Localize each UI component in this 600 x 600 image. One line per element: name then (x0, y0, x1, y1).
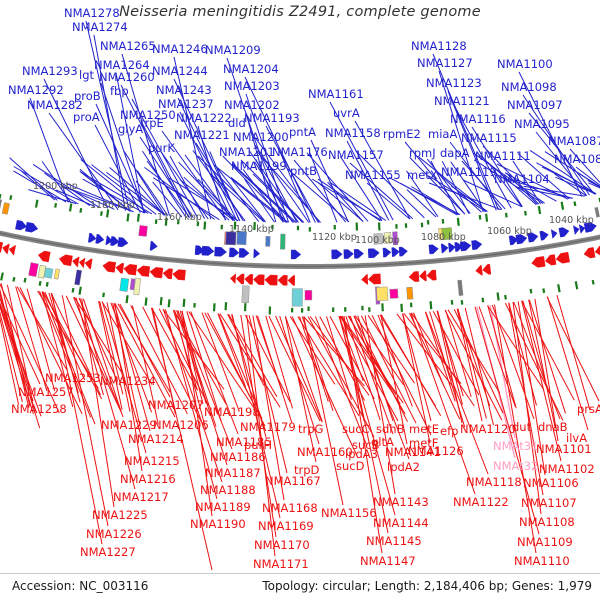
gene-label-reverse[interactable]: NMA1258 (11, 404, 67, 416)
gene-label-reverse[interactable]: NMA1226 (86, 529, 142, 541)
gene-label-forward[interactable]: NMA1202 (224, 100, 280, 112)
gene-label-forward[interactable]: NMA1193 (244, 113, 300, 125)
gene-label-forward[interactable]: pntA (289, 127, 316, 139)
gene-label-forward[interactable]: NMA1128 (411, 41, 467, 53)
gene-label-forward[interactable]: NMA1095 (514, 119, 570, 131)
gene-label-reverse[interactable]: NMA1187 (205, 468, 261, 480)
gene-label-forward[interactable]: NMA1293 (22, 66, 78, 78)
gene-label-reverse[interactable]: NMA1214 (128, 434, 184, 446)
gene-label-forward[interactable]: miaA (428, 129, 457, 141)
gene-label-reverse[interactable]: NMA1189 (195, 502, 251, 514)
gene-label-reverse[interactable]: efp (440, 426, 458, 438)
gene-label-forward[interactable]: NMA1121 (434, 96, 490, 108)
gene-label-forward[interactable]: NMA1157 (328, 150, 384, 162)
gene-label-reverse[interactable]: NMA1118 (466, 477, 522, 489)
ruler-tick-label: 1140 kbp (229, 224, 274, 235)
gene-label-reverse[interactable]: NMA1217 (113, 492, 169, 504)
gene-label-reverse[interactable]: NMA1169 (258, 521, 314, 533)
gene-label-reverse[interactable]: NMA1206 (153, 420, 209, 432)
ruler-tick-label: 1060 kbp (487, 226, 532, 237)
gene-label-reverse[interactable]: dnaB (538, 422, 568, 434)
gene-label-forward[interactable]: NMA1246 (152, 44, 208, 56)
gene-label-forward[interactable]: NMA1115 (461, 133, 517, 145)
gene-label-forward[interactable]: NMA1274 (72, 22, 128, 34)
gene-label-reverse[interactable]: NMA1101 (536, 444, 592, 456)
gene-label-reverse[interactable]: NMA1190 (190, 519, 246, 531)
gene-label-forward[interactable]: NMA1221 (174, 130, 230, 142)
gene-label-forward[interactable]: fbp (110, 86, 129, 98)
ruler-tick-label: 1120 kbp (312, 232, 357, 243)
gene-label-reverse[interactable]: NMA1102 (539, 464, 595, 476)
gene-label-reverse[interactable]: NMA1216 (120, 474, 176, 486)
gene-label-forward[interactable]: NMA1161 (308, 89, 364, 101)
gene-label-reverse[interactable]: dut (512, 422, 531, 434)
gene-label-reverse[interactable]: NMA1108 (519, 517, 575, 529)
gene-label-forward[interactable]: NMA1204 (223, 64, 279, 76)
gene-label-forward[interactable]: uvrA (333, 108, 360, 120)
gene-label-forward[interactable]: NMA1086 (554, 154, 600, 166)
ruler-tick-label: 1080 kbp (421, 232, 466, 243)
gene-label-forward[interactable]: NMA1200 (233, 132, 289, 144)
gene-label-forward[interactable]: purK (148, 143, 175, 155)
gene-label-reverse[interactable]: NMA1207 (148, 400, 204, 412)
gene-label-reverse[interactable]: NMA1167 (265, 476, 321, 488)
gene-label-forward[interactable]: NMA1292 (8, 85, 64, 97)
gene-label-forward[interactable]: dapA (440, 148, 470, 160)
gene-label-reverse[interactable]: NMA1145 (366, 536, 422, 548)
gene-label-forward[interactable]: NMA1222 (176, 113, 232, 125)
gene-label-forward[interactable]: NMA1244 (152, 66, 208, 78)
trna-label[interactable]: NMAt32 (493, 461, 538, 473)
gene-label-reverse[interactable]: NMA1215 (124, 456, 180, 468)
gene-label-forward[interactable]: NMA1116 (450, 114, 506, 126)
gene-label-forward[interactable]: NMA1123 (426, 78, 482, 90)
gene-label-forward[interactable]: rpmJ (409, 148, 436, 160)
gene-label-reverse[interactable]: NMA1141 (385, 447, 441, 459)
gene-label-reverse[interactable]: NMA1171 (253, 559, 309, 571)
gene-label-forward[interactable]: NMA1104 (494, 174, 550, 186)
ruler-tick-label: 1040 kbp (549, 215, 594, 226)
gene-label-forward[interactable]: NMA1087 (548, 136, 600, 148)
accession-text: Accession: NC_003116 (12, 579, 148, 593)
gene-label-reverse[interactable]: NMA1107 (521, 498, 577, 510)
gene-label-reverse[interactable]: trpG (298, 424, 323, 436)
gene-label-reverse[interactable]: NMA1122 (453, 497, 509, 509)
gene-label-forward[interactable]: NMA1201 (219, 147, 275, 159)
gene-label-reverse[interactable]: NMA1227 (80, 547, 136, 559)
gene-label-forward[interactable]: NMA1155 (345, 170, 401, 182)
gene-label-forward[interactable]: NMA1097 (507, 100, 563, 112)
gene-label-reverse[interactable]: NMA1186 (210, 452, 266, 464)
gene-label-reverse[interactable]: metE (409, 424, 439, 436)
gene-label-forward[interactable]: NMA1203 (224, 81, 280, 93)
gene-label-forward[interactable]: NMA1100 (497, 59, 553, 71)
gene-label-reverse[interactable]: NMA1229 (101, 420, 157, 432)
ruler-tick-label: 1180 kbp (90, 200, 135, 211)
gene-label-reverse[interactable]: sucD (336, 461, 364, 473)
trna-label[interactable]: NMAt31 (493, 441, 538, 453)
genome-viewer: Neisseria meningitidis Z2491, complete g… (0, 0, 600, 600)
gene-label-forward[interactable]: NMA1176 (272, 147, 328, 159)
gene-label-reverse[interactable]: NMA1156 (321, 508, 377, 520)
gene-label-reverse[interactable]: NMA1144 (373, 518, 429, 530)
gene-label-forward[interactable]: rpmE2 (383, 129, 421, 141)
gene-label-reverse[interactable]: sucC (342, 424, 370, 436)
gene-label-forward[interactable]: NMA1243 (156, 85, 212, 97)
gene-label-reverse[interactable]: NMA1143 (373, 497, 429, 509)
gene-label-reverse[interactable]: NMA1147 (360, 556, 416, 568)
gene-label-reverse[interactable]: NMA1106 (523, 478, 579, 490)
gene-label-reverse[interactable]: sdhB (376, 424, 404, 436)
ruler-tick-label: 1200 kbp (33, 181, 78, 192)
gene-label-forward[interactable]: NMA1265 (100, 41, 156, 53)
gene-label-forward[interactable]: NMA1209 (205, 45, 261, 57)
gene-label-reverse[interactable]: NMA1170 (254, 540, 310, 552)
gene-label-reverse[interactable]: NMA1225 (92, 510, 148, 522)
gene-label-reverse[interactable]: NMA1179 (240, 422, 296, 434)
gene-label-reverse[interactable]: NMA1234 (100, 376, 156, 388)
gene-label-reverse[interactable]: prsA (577, 404, 600, 416)
gene-label-reverse[interactable]: NMA1110 (514, 556, 570, 568)
gene-label-reverse[interactable]: NMA1185 (216, 437, 272, 449)
gene-label-forward[interactable]: NMA1199 (231, 161, 287, 173)
gene-label-forward[interactable]: NMA1119 (441, 167, 497, 179)
gene-label-forward[interactable]: NMA1098 (501, 82, 557, 94)
gene-label-reverse[interactable]: NMA1168 (262, 503, 318, 515)
gene-label-reverse[interactable]: NMA1188 (200, 485, 256, 497)
gene-label-forward[interactable]: proA (73, 112, 100, 124)
ruler-tick-label: 1160 kbp (157, 212, 202, 223)
gene-label-forward[interactable]: lgt (79, 70, 94, 82)
gene-label-forward[interactable]: NMA1127 (417, 58, 473, 70)
gene-label-forward[interactable]: pntB (290, 166, 317, 178)
topology-text: Topology: circular; Length: 2,184,406 bp… (262, 579, 592, 593)
gene-label-reverse[interactable]: NMA1120 (460, 424, 516, 436)
gene-label-forward[interactable]: NMA1158 (325, 128, 381, 140)
status-bar: Accession: NC_003116 Topology: circular;… (0, 573, 600, 600)
gene-label-forward[interactable]: NMA1278 (64, 8, 120, 20)
gene-label-reverse[interactable]: NMA1253 (45, 373, 101, 385)
gene-label-reverse[interactable]: NMA1109 (517, 537, 573, 549)
gene-label-reverse[interactable]: NMA1257 (18, 387, 74, 399)
gene-label-forward[interactable]: NMA1260 (99, 72, 155, 84)
gene-label-forward[interactable]: NMA1111 (475, 151, 531, 163)
gene-label-forward[interactable]: NMA1250 (120, 110, 176, 122)
gene-label-forward[interactable]: metX (407, 170, 438, 182)
gene-label-reverse[interactable]: lpdA2 (387, 462, 420, 474)
gene-label-reverse[interactable]: NMA1198 (204, 407, 260, 419)
ruler-tick-label: 1100 kbp (355, 235, 400, 246)
